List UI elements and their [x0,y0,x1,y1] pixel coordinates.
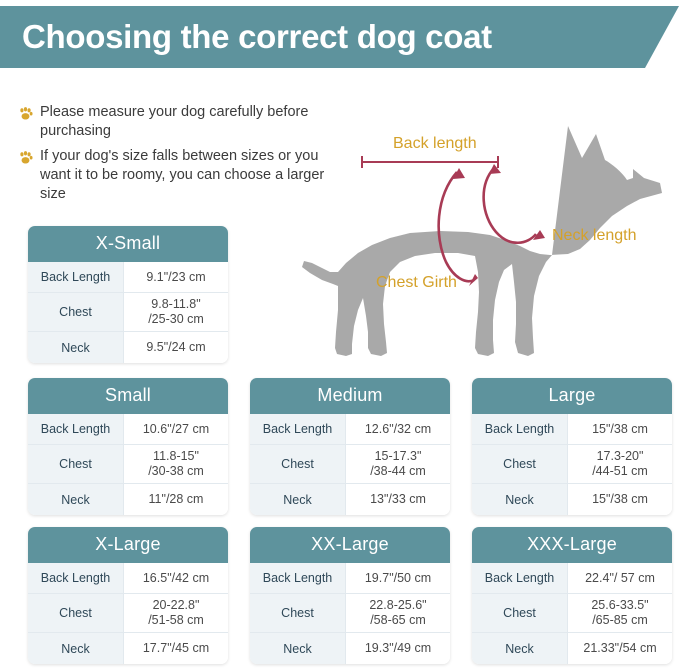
row-label: Neck [250,633,346,664]
table-row: Chest 11.8-15" /30-38 cm [28,445,228,484]
row-label: Neck [472,484,568,515]
size-table-xxxlarge: XXX-Large Back Length 22.4"/ 57 cm Chest… [472,527,672,664]
row-value: 9.5"/24 cm [124,332,228,363]
page-title: Choosing the correct dog coat [0,18,492,56]
row-value: 15"/38 cm [568,484,672,515]
row-value: 11"/28 cm [124,484,228,515]
size-table-header: Medium [250,378,450,414]
row-label: Neck [472,633,568,664]
paw-print-icon [18,106,33,121]
size-table-large: Large Back Length 15"/38 cm Chest 17.3-2… [472,378,672,515]
size-table-header: X-Large [28,527,228,563]
row-value: 21.33"/54 cm [568,633,672,664]
row-label: Back Length [28,262,124,292]
row-label: Chest [472,594,568,632]
row-value: 9.8-11.8" /25-30 cm [124,293,228,331]
row-value: 17.3-20" /44-51 cm [568,445,672,483]
note-text: Please measure your dog carefully before… [40,103,338,141]
header-banner: Choosing the correct dog coat [0,6,679,68]
row-label: Neck [250,484,346,515]
row-label: Back Length [28,414,124,444]
table-row: Chest 9.8-11.8" /25-30 cm [28,293,228,332]
row-label: Back Length [472,414,568,444]
row-value: 12.6"/32 cm [346,414,450,444]
size-table-xxlarge: XX-Large Back Length 19.7"/50 cm Chest 2… [250,527,450,664]
size-table-small: Small Back Length 10.6"/27 cm Chest 11.8… [28,378,228,515]
table-row: Back Length 9.1"/23 cm [28,262,228,293]
row-value: 11.8-15" /30-38 cm [124,445,228,483]
row-label: Chest [250,594,346,632]
note-item: If your dog's size falls between sizes o… [18,147,338,204]
table-row: Back Length 10.6"/27 cm [28,414,228,445]
row-label: Neck [28,332,124,363]
size-table-header: XX-Large [250,527,450,563]
back-length-label: Back length [393,135,477,152]
size-table-xlarge: X-Large Back Length 16.5"/42 cm Chest 20… [28,527,228,664]
row-label: Back Length [28,563,124,593]
row-value: 15-17.3" /38-44 cm [346,445,450,483]
row-value: 17.7"/45 cm [124,633,228,664]
row-value: 15"/38 cm [568,414,672,444]
size-table-header: Small [28,378,228,414]
row-value: 13"/33 cm [346,484,450,515]
table-row: Neck 19.3"/49 cm [250,633,450,664]
back-length-measure-line [362,156,498,168]
table-row: Neck 17.7"/45 cm [28,633,228,664]
dog-measurement-diagram: Back length Neck length Chest Girth [300,120,679,370]
row-value: 22.4"/ 57 cm [568,563,672,593]
table-row: Back Length 15"/38 cm [472,414,672,445]
row-value: 9.1"/23 cm [124,262,228,292]
size-table-header: XXX-Large [472,527,672,563]
table-row: Back Length 22.4"/ 57 cm [472,563,672,594]
table-row: Neck 13"/33 cm [250,484,450,515]
table-row: Chest 22.8-25.6" /58-65 cm [250,594,450,633]
row-label: Chest [250,445,346,483]
table-row: Chest 15-17.3" /38-44 cm [250,445,450,484]
table-row: Neck 9.5"/24 cm [28,332,228,363]
row-label: Neck [28,484,124,515]
row-value: 19.3"/49 cm [346,633,450,664]
row-label: Chest [28,445,124,483]
table-row: Neck 21.33"/54 cm [472,633,672,664]
note-text: If your dog's size falls between sizes o… [40,147,338,204]
row-label: Back Length [250,414,346,444]
size-table-medium: Medium Back Length 12.6"/32 cm Chest 15-… [250,378,450,515]
table-row: Chest 17.3-20" /44-51 cm [472,445,672,484]
instruction-notes: Please measure your dog carefully before… [18,103,338,210]
paw-print-icon [18,150,33,165]
row-label: Chest [28,594,124,632]
row-value: 22.8-25.6" /58-65 cm [346,594,450,632]
neck-length-arc [484,164,545,243]
row-value: 10.6"/27 cm [124,414,228,444]
row-value: 25.6-33.5" /65-85 cm [568,594,672,632]
table-row: Neck 15"/38 cm [472,484,672,515]
row-value: 19.7"/50 cm [346,563,450,593]
size-table-xsmall: X-Small Back Length 9.1"/23 cm Chest 9.8… [28,226,228,363]
row-label: Back Length [472,563,568,593]
row-label: Chest [472,445,568,483]
chest-girth-label: Chest Girth [376,274,457,291]
row-label: Chest [28,293,124,331]
table-row: Chest 25.6-33.5" /65-85 cm [472,594,672,633]
row-label: Neck [28,633,124,664]
table-row: Back Length 12.6"/32 cm [250,414,450,445]
table-row: Chest 20-22.8" /51-58 cm [28,594,228,633]
row-value: 16.5"/42 cm [124,563,228,593]
chest-girth-arc [439,168,478,286]
size-table-header: Large [472,378,672,414]
table-row: Back Length 16.5"/42 cm [28,563,228,594]
size-table-header: X-Small [28,226,228,262]
row-value: 20-22.8" /51-58 cm [124,594,228,632]
table-row: Back Length 19.7"/50 cm [250,563,450,594]
neck-length-label: Neck length [552,227,637,244]
note-item: Please measure your dog carefully before… [18,103,338,141]
row-label: Back Length [250,563,346,593]
table-row: Neck 11"/28 cm [28,484,228,515]
